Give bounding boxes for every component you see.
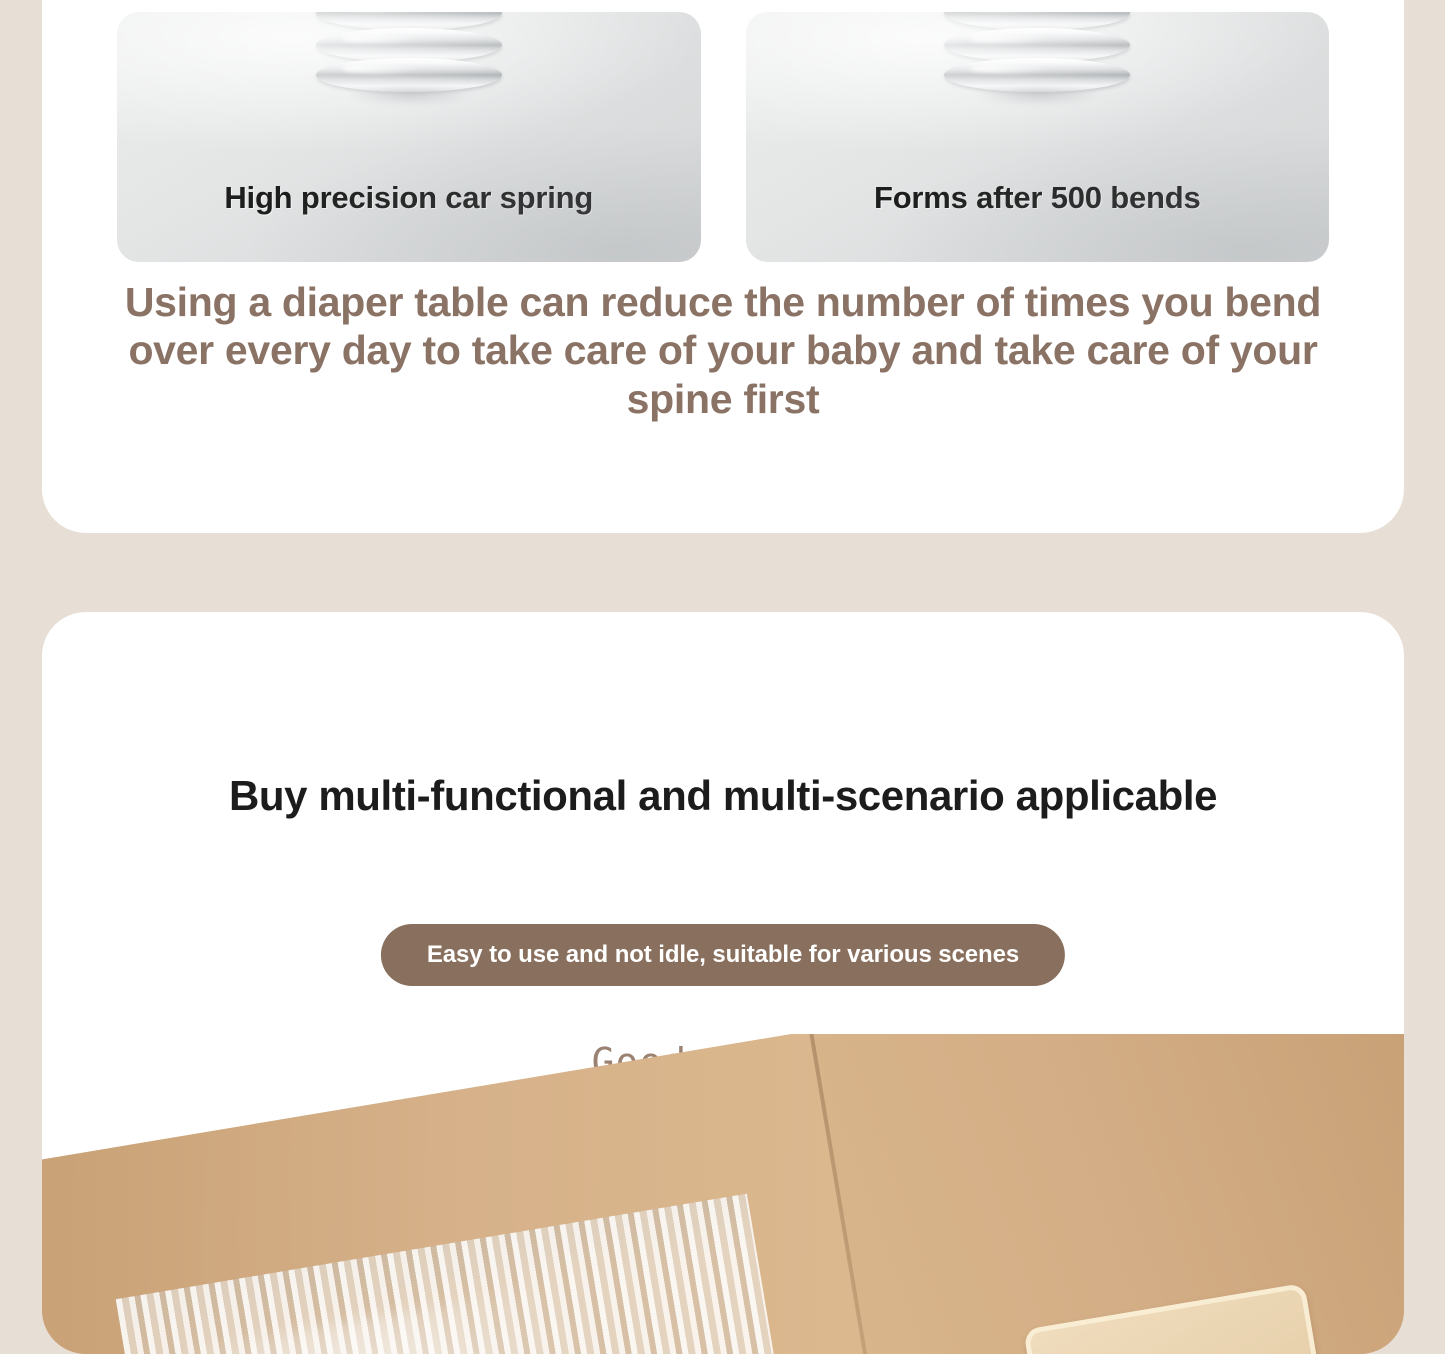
spring-feature-card: High precision car spring Forms after 50… (42, 0, 1404, 533)
coil-spring-icon (117, 12, 701, 96)
coil-spring-icon (746, 12, 1330, 96)
spec-tile-caption: High precision car spring (117, 180, 701, 216)
spec-tile-forms-after-500-bends: Forms after 500 bends (746, 12, 1330, 262)
spine-care-headline: Using a diaper table can reduce the numb… (106, 278, 1340, 423)
nursery-room-photo (42, 1034, 1404, 1354)
spec-tile-caption: Forms after 500 bends (746, 180, 1330, 216)
spec-tile-group: High precision car spring Forms after 50… (117, 12, 1329, 262)
multi-scenario-card: Buy multi-functional and multi-scenario … (42, 612, 1404, 1354)
section-title: Buy multi-functional and multi-scenario … (42, 772, 1404, 820)
status-badge: Easy to use and not idle, suitable for v… (381, 924, 1065, 986)
spec-tile-high-precision-car-spring: High precision car spring (117, 12, 701, 262)
product-detail-page: High precision car spring Forms after 50… (0, 0, 1445, 1354)
wall-right-surface (811, 1034, 1404, 1354)
